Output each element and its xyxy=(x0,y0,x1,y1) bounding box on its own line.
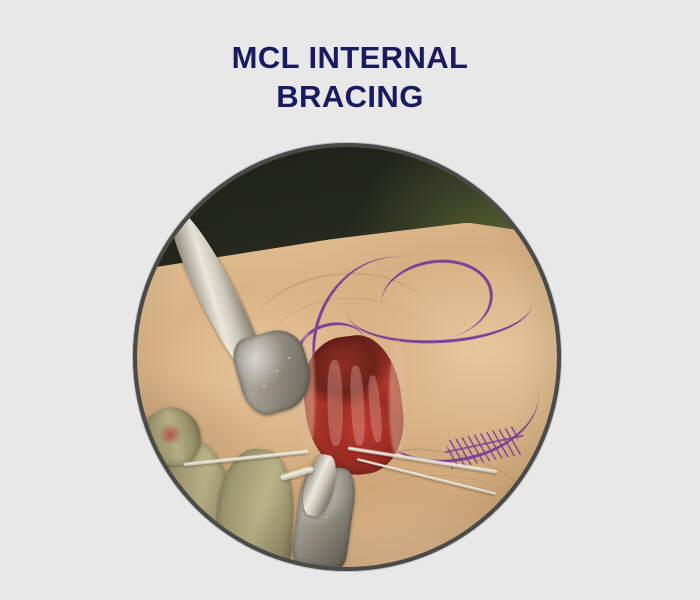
wound-fiber xyxy=(327,360,344,446)
title-line-1: MCL INTERNAL xyxy=(0,38,700,77)
retractor-tip-speckle xyxy=(288,357,290,359)
wound-edge xyxy=(389,340,406,458)
retractor-tip-speckle xyxy=(255,353,257,355)
retractor-tip-speckle xyxy=(276,370,278,372)
page-title: MCL INTERNAL BRACING xyxy=(0,38,700,116)
photo-content xyxy=(137,147,557,567)
retractor-tip-speckle xyxy=(263,386,265,388)
retractor-blade-speckle xyxy=(326,517,328,519)
title-line-2: BRACING xyxy=(0,77,700,116)
wound-fiber xyxy=(349,366,366,447)
wound-fiber xyxy=(366,375,382,442)
surgical-photo xyxy=(133,143,561,571)
photo-clip xyxy=(137,147,557,567)
slide-canvas: MCL INTERNAL BRACING xyxy=(0,0,700,600)
